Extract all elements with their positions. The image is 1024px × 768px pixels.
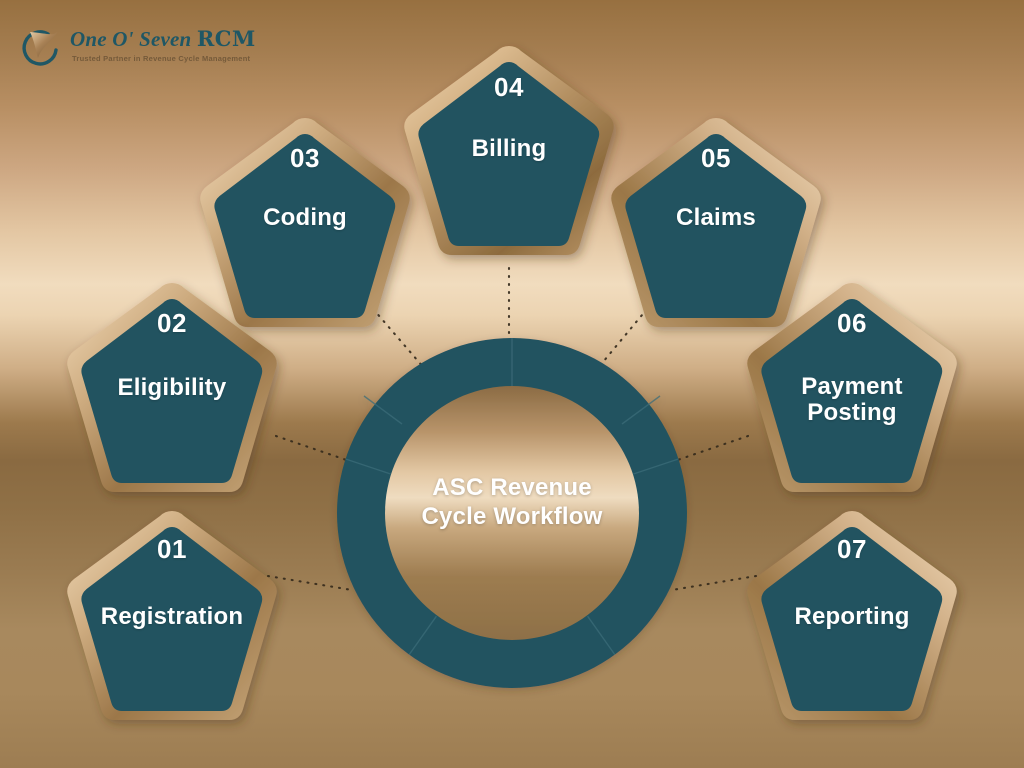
step-node-03-coding[interactable] — [200, 118, 410, 327]
connector-01 — [268, 576, 352, 590]
step-node-04-billing[interactable] — [404, 46, 614, 255]
center-ring — [337, 338, 687, 688]
step-node-07-reporting[interactable] — [747, 511, 957, 720]
connector-05 — [598, 303, 652, 368]
step-node-01-registration[interactable] — [67, 511, 277, 720]
cycle-diagram — [0, 0, 1024, 768]
step-node-05-claims[interactable] — [611, 118, 821, 327]
connector-07 — [672, 576, 756, 590]
infographic-canvas: One O' Seven RCM Trusted Partner in Reve… — [0, 0, 1024, 768]
